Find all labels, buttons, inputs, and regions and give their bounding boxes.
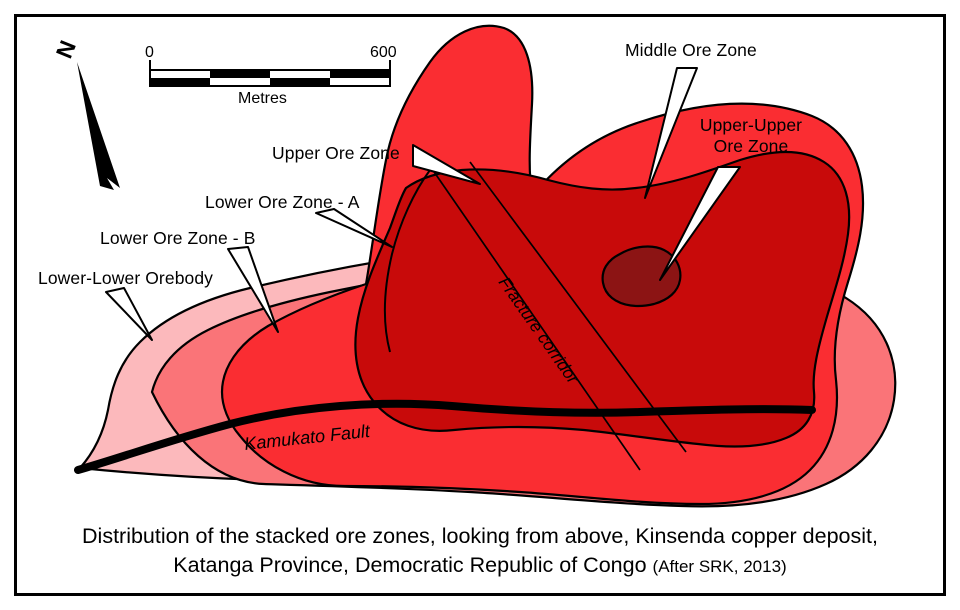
north-arrow-icon	[77, 62, 120, 190]
label-middle-ore-zone: Middle Ore Zone	[625, 40, 757, 60]
figure-caption: Distribution of the stacked ore zones, l…	[40, 522, 920, 581]
scale-bar-min-label: 0	[145, 44, 154, 62]
scale-bar	[150, 60, 390, 86]
label-lower-ore-zone-b: Lower Ore Zone - B	[100, 228, 255, 248]
label-lower-lower-orebody: Lower-Lower Orebody	[38, 268, 213, 288]
caption-source-text: (After SRK, 2013)	[653, 557, 787, 576]
label-upper-upper-ore-zone-line2: Ore Zone	[690, 136, 812, 156]
figure-container: Fracture corridor Kamukato Fault N 0 600…	[0, 0, 960, 610]
scale-bar-max-label: 600	[370, 44, 397, 62]
label-lower-ore-zone-a: Lower Ore Zone - A	[205, 192, 360, 212]
ore-zone-map: Fracture corridor Kamukato Fault	[0, 0, 960, 610]
scale-bar-unit-label: Metres	[238, 90, 287, 108]
label-upper-upper-ore-zone-line1: Upper-Upper	[690, 115, 812, 135]
leader-arrow-lower-lower-orebody	[106, 288, 152, 340]
label-upper-ore-zone: Upper Ore Zone	[272, 143, 400, 163]
